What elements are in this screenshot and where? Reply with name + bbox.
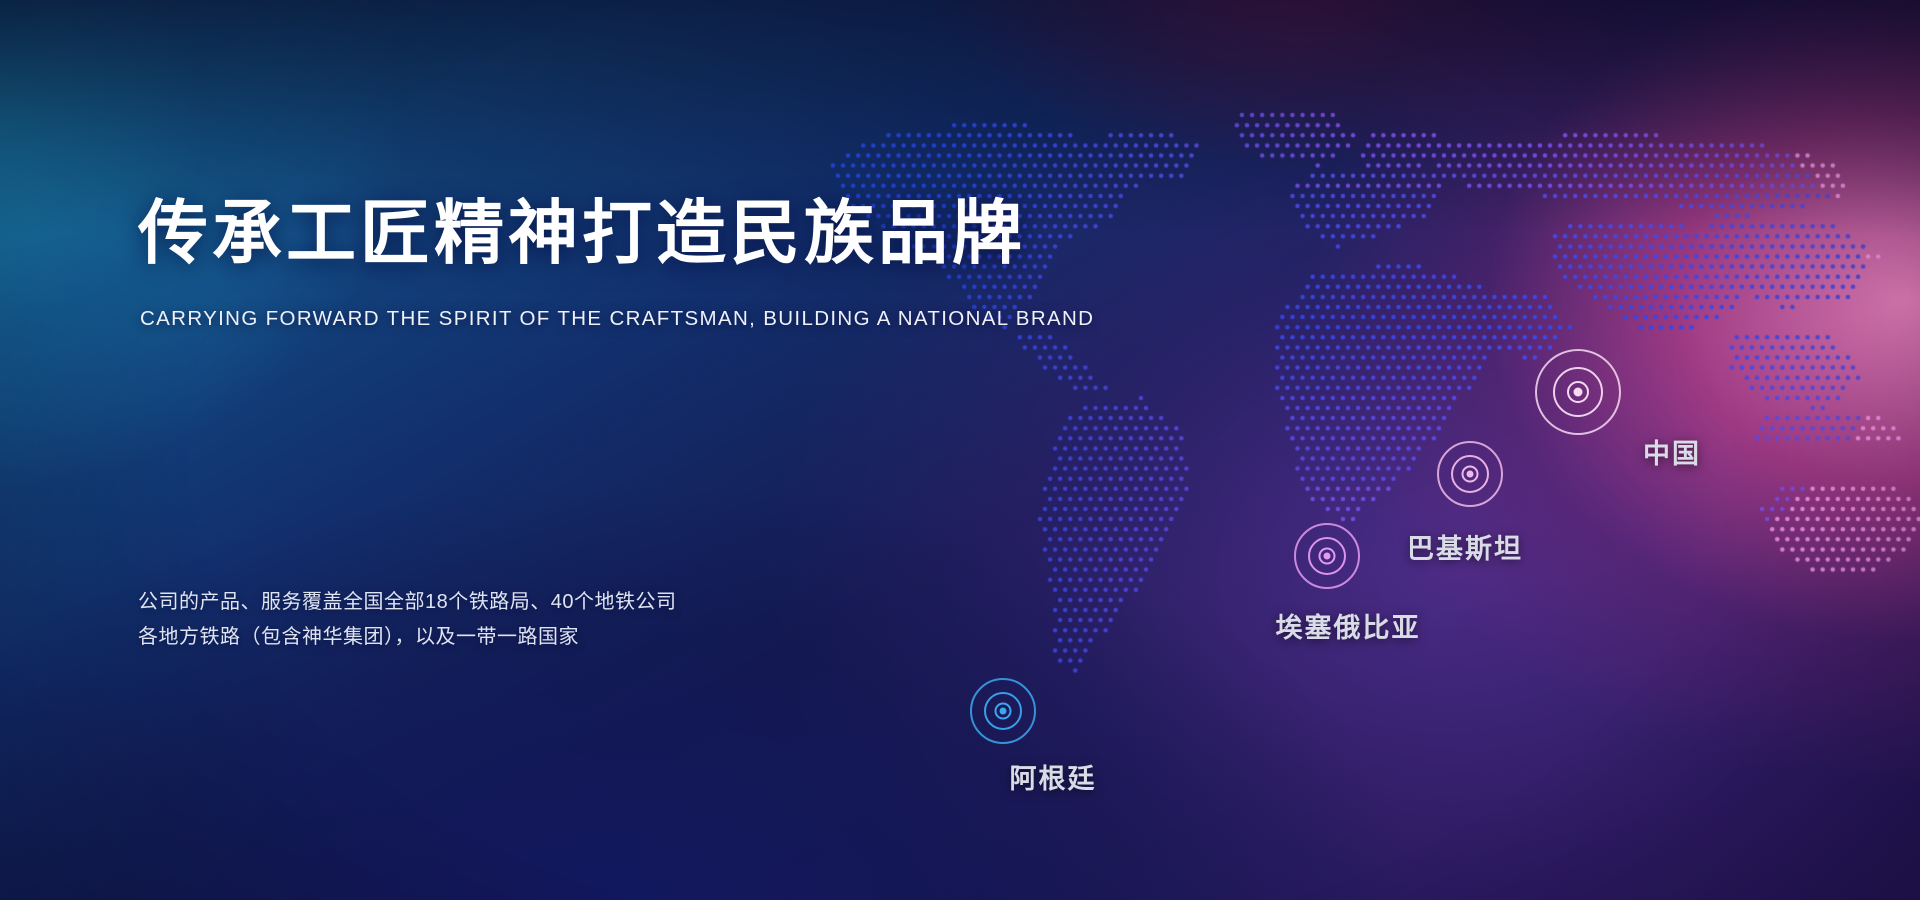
- stat-item: [417, 418, 696, 435]
- marker-core-icon: [1000, 708, 1007, 715]
- stats-row: [138, 418, 705, 435]
- map-label-china: 中国: [1643, 432, 1701, 471]
- dotted-world-map: [0, 0, 1920, 900]
- stat-item: [138, 418, 417, 435]
- map-label-ethiopia: 埃塞俄比亚: [1276, 606, 1421, 645]
- marker-core-icon: [1574, 388, 1583, 397]
- description-text: 公司的产品、服务覆盖全国全部18个铁路局、40个地铁公司 各地方铁路（包含神华集…: [138, 585, 677, 655]
- page-subtitle: CARRYING FORWARD THE SPIRIT OF THE CRAFT…: [140, 307, 1094, 331]
- marker-core-icon: [1324, 553, 1331, 560]
- map-label-pakistan: 巴基斯坦: [1407, 527, 1523, 566]
- marker-core-icon: [1467, 471, 1474, 478]
- stat-item: [696, 418, 705, 435]
- banner-stage: 中国巴基斯坦埃塞俄比亚阿根廷 传承工匠精神打造民族品牌 CARRYING FOR…: [0, 0, 1920, 900]
- map-label-argentina: 阿根廷: [1010, 757, 1097, 796]
- page-title: 传承工匠精神打造民族品牌: [138, 198, 1026, 268]
